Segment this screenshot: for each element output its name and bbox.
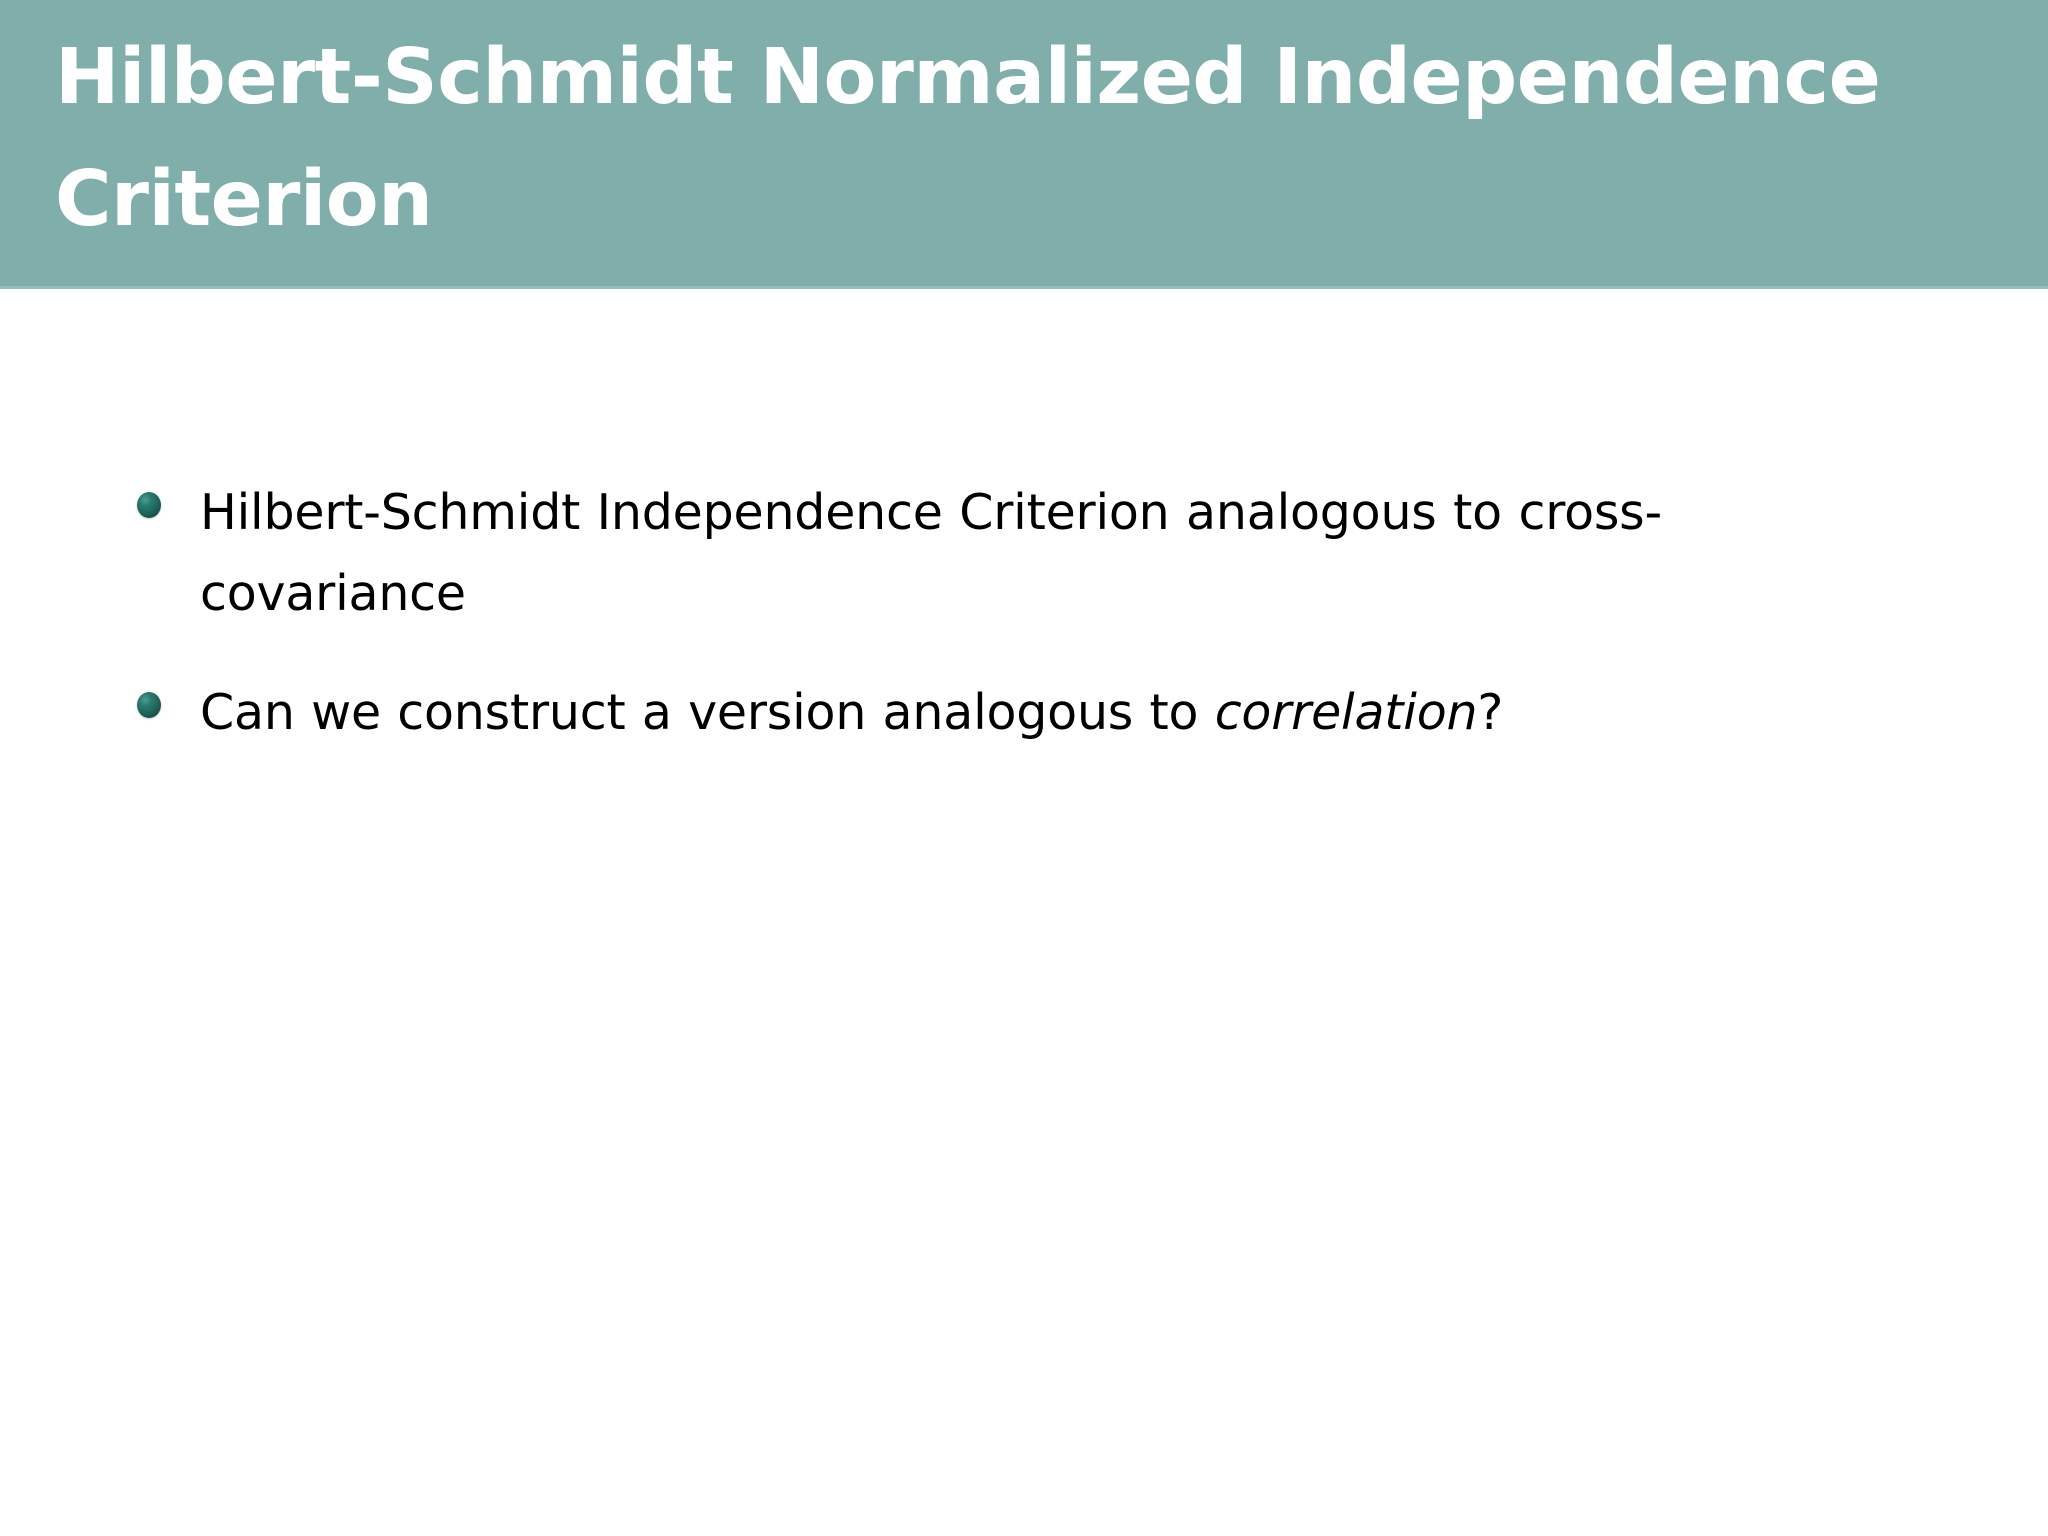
bullet-text-prefix: Can we construct a version analogous to bbox=[200, 684, 1215, 741]
bullet-item-text-2: Can we construct a version analogous to … bbox=[200, 672, 1662, 753]
presentation-slide: Hilbert-Schmidt Normalized Independence … bbox=[0, 0, 2048, 1536]
bullet-sphere-icon bbox=[137, 692, 161, 718]
slide-header-bar: Hilbert-Schmidt Normalized Independence … bbox=[0, 0, 2048, 289]
bullet-text-emphasis: correlation bbox=[1215, 684, 1478, 741]
bullet-line-1: Hilbert-Schmidt Independence Criterion a… bbox=[200, 484, 1502, 541]
bullet-sphere-icon bbox=[137, 492, 161, 518]
bullet-item-text-1: Hilbert-Schmidt Independence Criterion a… bbox=[200, 472, 1662, 634]
slide-title: Hilbert-Schmidt Normalized Independence … bbox=[55, 17, 1985, 261]
slide-body: Hilbert-Schmidt Independence Criterion a… bbox=[0, 289, 2048, 1536]
bullet-text-suffix: ? bbox=[1477, 684, 1503, 741]
list-item: Hilbert-Schmidt Independence Criterion a… bbox=[137, 472, 1662, 634]
list-item: Can we construct a version analogous to … bbox=[137, 672, 1662, 753]
bullet-list: Hilbert-Schmidt Independence Criterion a… bbox=[137, 472, 1662, 791]
